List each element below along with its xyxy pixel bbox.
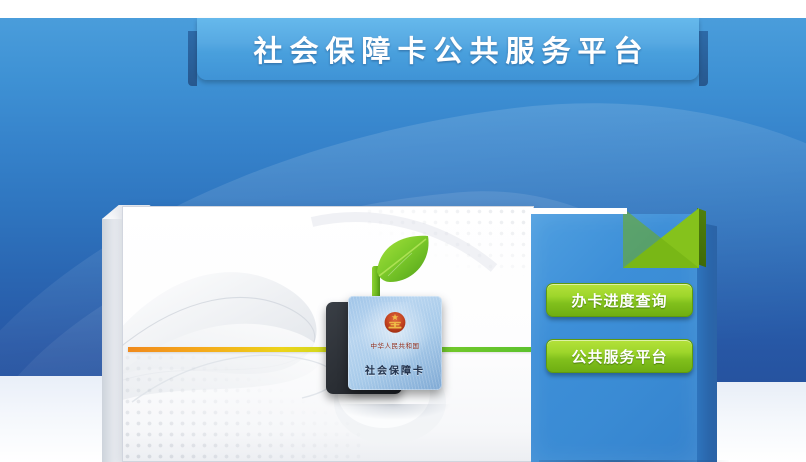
page-title: 社会保障卡公共服务平台 xyxy=(246,28,649,70)
card-front-face: 中华人民共和国 社会保障卡 xyxy=(348,296,442,390)
national-emblem-icon xyxy=(382,310,408,336)
card-progress-inquiry-button[interactable]: 办卡进度查询 xyxy=(546,283,693,317)
card-nation-text: 中华人民共和国 xyxy=(348,340,442,350)
public-service-platform-button[interactable]: 公共服务平台 xyxy=(546,339,693,373)
banner-fold-left xyxy=(188,31,197,86)
public-service-platform-label: 公共服务平台 xyxy=(571,346,667,367)
card-name-text: 社会保障卡 xyxy=(348,362,442,377)
social-security-card-graphic: 中华人民共和国 社会保障卡 xyxy=(326,236,454,411)
white-panel-side-face xyxy=(102,214,124,462)
banner-body: 社会保障卡公共服务平台 xyxy=(197,18,699,80)
card-progress-inquiry-label: 办卡进度查询 xyxy=(571,290,667,311)
green-folded-corner-shade xyxy=(623,208,699,268)
banner-fold-right xyxy=(699,31,708,86)
blue-action-panel xyxy=(531,214,697,462)
title-banner: 社会保障卡公共服务平台 xyxy=(188,18,699,80)
page-root: 社会保障卡公共服务平台 办卡进度查询 公共服务平台 xyxy=(0,0,806,462)
panel-top-notch xyxy=(531,208,627,214)
